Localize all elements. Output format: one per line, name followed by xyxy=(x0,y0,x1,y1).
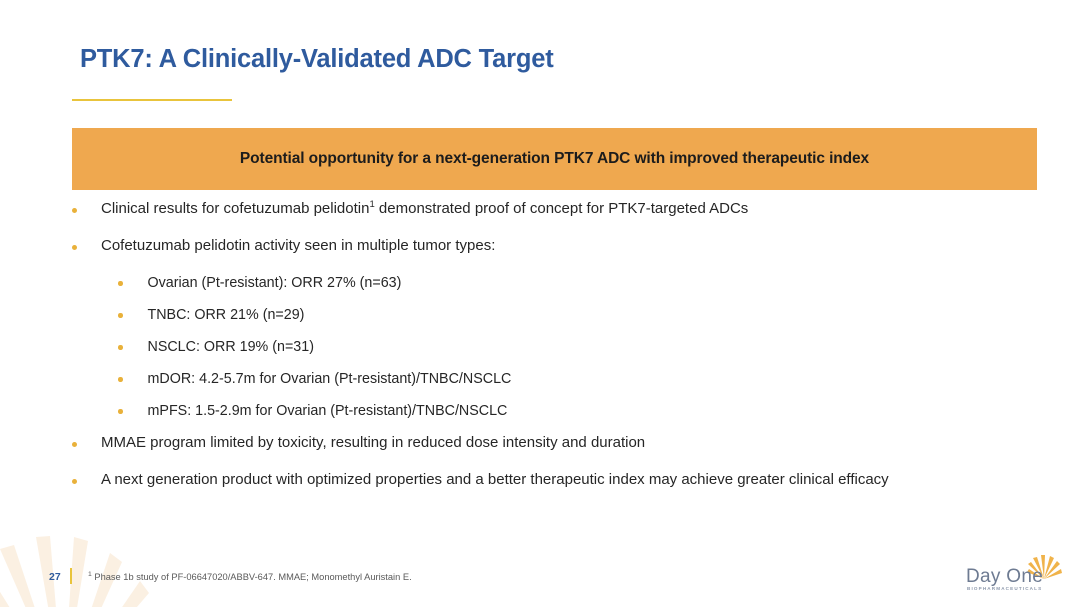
bullet-text: MMAE program limited by toxicity, result… xyxy=(101,434,645,452)
page-title: PTK7: A Clinically-Validated ADC Target xyxy=(80,45,554,74)
bullet-item: Cofetuzumab pelidotin activity seen in m… xyxy=(72,237,1052,274)
page-number: 27 xyxy=(49,571,61,583)
bullet-superscript: 1 xyxy=(369,199,374,210)
bullet-dot-icon xyxy=(72,442,77,447)
bullet-dot-icon xyxy=(118,313,123,318)
bullet-text: Clinical results for cofetuzumab pelidot… xyxy=(101,200,748,218)
bullet-dot-icon xyxy=(118,409,123,414)
footer-divider xyxy=(70,568,72,584)
bullet-text: Cofetuzumab pelidotin activity seen in m… xyxy=(101,237,495,255)
callout-banner-text: Potential opportunity for a next-generat… xyxy=(240,150,869,168)
bullet-text: mPFS: 1.5-2.9m for Ovarian (Pt-resistant… xyxy=(148,402,508,420)
title-underline-rule xyxy=(72,99,232,101)
bullet-item: Clinical results for cofetuzumab pelidot… xyxy=(72,200,1052,237)
bullet-dot-icon xyxy=(118,377,123,382)
logo-tagline: BIOPHARMACEUTICALS xyxy=(967,586,1042,591)
footnote-text: Phase 1b study of PF-06647020/ABBV-647. … xyxy=(92,572,412,582)
bullet-item: mPFS: 1.5-2.9m for Ovarian (Pt-resistant… xyxy=(72,402,1052,434)
bullet-text: NSCLC: ORR 19% (n=31) xyxy=(148,338,314,356)
callout-banner: Potential opportunity for a next-generat… xyxy=(72,128,1037,190)
bullet-text: TNBC: ORR 21% (n=29) xyxy=(148,306,305,324)
bullet-dot-icon xyxy=(118,281,123,286)
bullet-dot-icon xyxy=(72,208,77,213)
bullet-text: Ovarian (Pt-resistant): ORR 27% (n=63) xyxy=(148,274,402,292)
bullet-item: mDOR: 4.2-5.7m for Ovarian (Pt-resistant… xyxy=(72,370,1052,402)
bullet-text: mDOR: 4.2-5.7m for Ovarian (Pt-resistant… xyxy=(148,370,512,388)
bullet-text: A next generation product with optimized… xyxy=(101,471,889,489)
bullet-dot-icon xyxy=(72,245,77,250)
bullet-dot-icon xyxy=(72,479,77,484)
bullet-item: TNBC: ORR 21% (n=29) xyxy=(72,306,1052,338)
logo-wordmark: Day One xyxy=(966,566,1043,588)
bullet-dot-icon xyxy=(118,345,123,350)
company-logo: Day One BIOPHARMACEUTICALS xyxy=(966,557,1062,595)
bullet-item: Ovarian (Pt-resistant): ORR 27% (n=63) xyxy=(72,274,1052,306)
footnote: 1 Phase 1b study of PF-06647020/ABBV-647… xyxy=(88,572,412,582)
bullet-item: NSCLC: ORR 19% (n=31) xyxy=(72,338,1052,370)
sunburst-watermark-icon xyxy=(0,513,178,607)
slide: PTK7: A Clinically-Validated ADC Target … xyxy=(0,0,1080,607)
bullet-item: A next generation product with optimized… xyxy=(72,471,1052,508)
bullet-item: MMAE program limited by toxicity, result… xyxy=(72,434,1052,471)
bullet-list: Clinical results for cofetuzumab pelidot… xyxy=(72,200,1052,508)
